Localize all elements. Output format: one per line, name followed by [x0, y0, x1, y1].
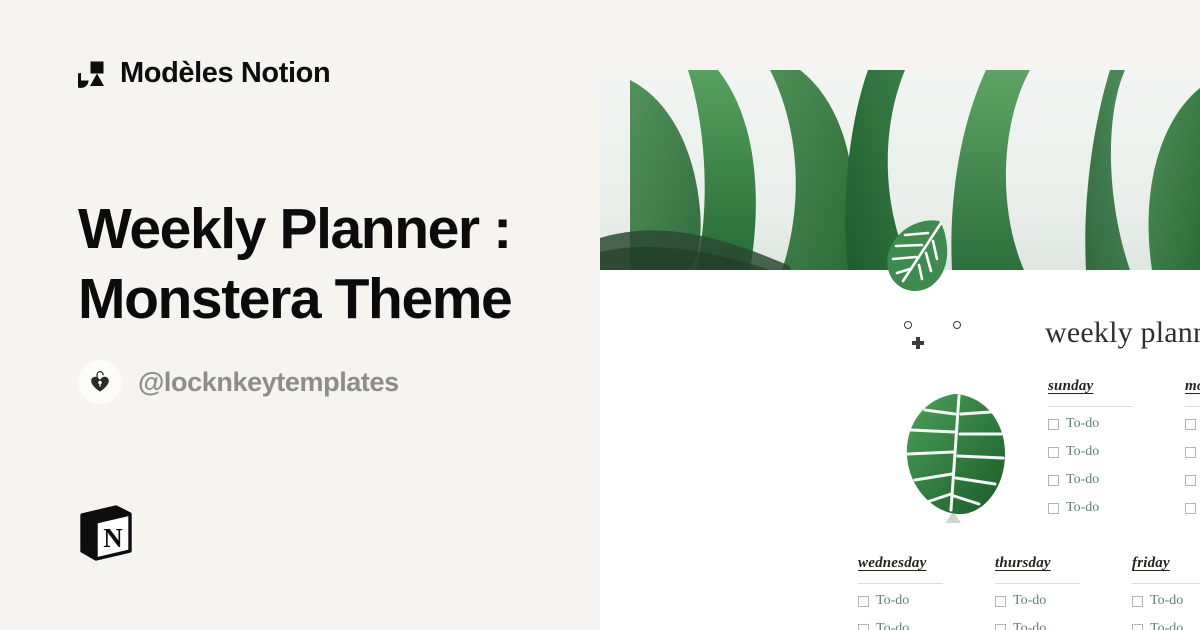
preview-card: Modèles Notion Weekly Planner : Monstera… — [0, 0, 1200, 630]
divider — [1185, 406, 1200, 407]
day-name: wednesday — [858, 555, 943, 572]
todo-list: To-do To-do — [1132, 593, 1200, 630]
weekday-row-bottom: wednesday To-do To-do thursd — [858, 555, 1200, 630]
todo-list: To-do To-do — [995, 593, 1080, 630]
right-panel: weekly planner — [600, 0, 1200, 630]
circle-outline-icon — [904, 321, 912, 329]
monstera-leaf-icon — [881, 215, 953, 295]
todo-label: To-do — [1013, 621, 1046, 630]
checkbox-icon[interactable] — [995, 624, 1006, 630]
todo-label: To-do — [1066, 416, 1099, 432]
todo-list: To-do To-do To-do To-do — [1185, 416, 1200, 516]
checkbox-icon[interactable] — [1048, 419, 1059, 430]
avatar — [78, 360, 122, 404]
todo-label: To-do — [1150, 593, 1183, 609]
left-panel: Modèles Notion Weekly Planner : Monstera… — [0, 0, 600, 630]
divider — [995, 583, 1080, 584]
weekday-row-top: sunday To-do To-do To-do — [1048, 378, 1200, 516]
plus-mark-icon — [912, 337, 924, 349]
todo-item[interactable]: To-do — [1132, 593, 1200, 609]
heart-padlock-icon — [88, 370, 112, 394]
todo-item[interactable]: To-do — [1185, 416, 1200, 432]
checkbox-icon[interactable] — [995, 596, 1006, 607]
todo-label: To-do — [876, 593, 909, 609]
day-column[interactable]: monday To-do To-do To-do — [1185, 378, 1200, 516]
brand-name: Modèles Notion — [120, 57, 330, 90]
template-preview-document[interactable]: weekly planner — [600, 70, 1200, 630]
day-column[interactable]: thursday To-do To-do — [995, 555, 1080, 630]
circle-outline-icon — [953, 321, 961, 329]
checkbox-icon[interactable] — [858, 596, 869, 607]
todo-label: To-do — [1150, 621, 1183, 630]
todo-item[interactable]: To-do — [1048, 444, 1133, 460]
day-column[interactable]: sunday To-do To-do To-do — [1048, 378, 1133, 516]
day-column[interactable]: wednesday To-do To-do — [858, 555, 943, 630]
todo-item[interactable]: To-do — [995, 621, 1080, 630]
todo-label: To-do — [1066, 472, 1099, 488]
todo-label: To-do — [1013, 593, 1046, 609]
checkbox-icon[interactable] — [1185, 475, 1196, 486]
todo-item[interactable]: To-do — [995, 593, 1080, 609]
notion-templates-mark-icon — [78, 60, 106, 88]
todo-item[interactable]: To-do — [1185, 444, 1200, 460]
checkbox-icon[interactable] — [1132, 596, 1143, 607]
monstera-leaf-illustration — [895, 388, 1015, 523]
checkbox-icon[interactable] — [1048, 503, 1059, 514]
todo-item[interactable]: To-do — [1185, 472, 1200, 488]
day-name: sunday — [1048, 378, 1133, 395]
checkbox-icon[interactable] — [1048, 475, 1059, 486]
notion-cube-logo-icon: N — [78, 503, 134, 561]
svg-text:N: N — [103, 523, 123, 553]
day-name: thursday — [995, 555, 1080, 572]
todo-item[interactable]: To-do — [858, 621, 943, 630]
planner-heading: weekly planner — [1045, 316, 1200, 350]
brand-header[interactable]: Modèles Notion — [78, 57, 330, 90]
todo-item[interactable]: To-do — [1185, 500, 1200, 516]
author-row[interactable]: @locknkeytemplates — [78, 360, 399, 404]
page-title: Weekly Planner : Monstera Theme — [78, 194, 598, 334]
sparkle-decorations — [895, 315, 975, 365]
day-column[interactable]: friday To-do To-do — [1132, 555, 1200, 630]
author-handle: @locknkeytemplates — [138, 367, 399, 398]
todo-item[interactable]: To-do — [858, 593, 943, 609]
checkbox-icon[interactable] — [1048, 447, 1059, 458]
day-name: friday — [1132, 555, 1200, 572]
divider — [1132, 583, 1200, 584]
todo-item[interactable]: To-do — [1048, 416, 1133, 432]
checkbox-icon[interactable] — [1185, 447, 1196, 458]
checkbox-icon[interactable] — [1132, 624, 1143, 630]
todo-item[interactable]: To-do — [1132, 621, 1200, 630]
todo-list: To-do To-do To-do To-do — [1048, 416, 1133, 516]
day-name: monday — [1185, 378, 1200, 395]
divider — [1048, 406, 1133, 407]
todo-label: To-do — [1066, 500, 1099, 516]
todo-label: To-do — [876, 621, 909, 630]
checkbox-icon[interactable] — [858, 624, 869, 630]
todo-item[interactable]: To-do — [1048, 500, 1133, 516]
divider — [858, 583, 943, 584]
checkbox-icon[interactable] — [1185, 419, 1196, 430]
todo-label: To-do — [1066, 444, 1099, 460]
checkbox-icon[interactable] — [1185, 503, 1196, 514]
todo-list: To-do To-do — [858, 593, 943, 630]
todo-item[interactable]: To-do — [1048, 472, 1133, 488]
